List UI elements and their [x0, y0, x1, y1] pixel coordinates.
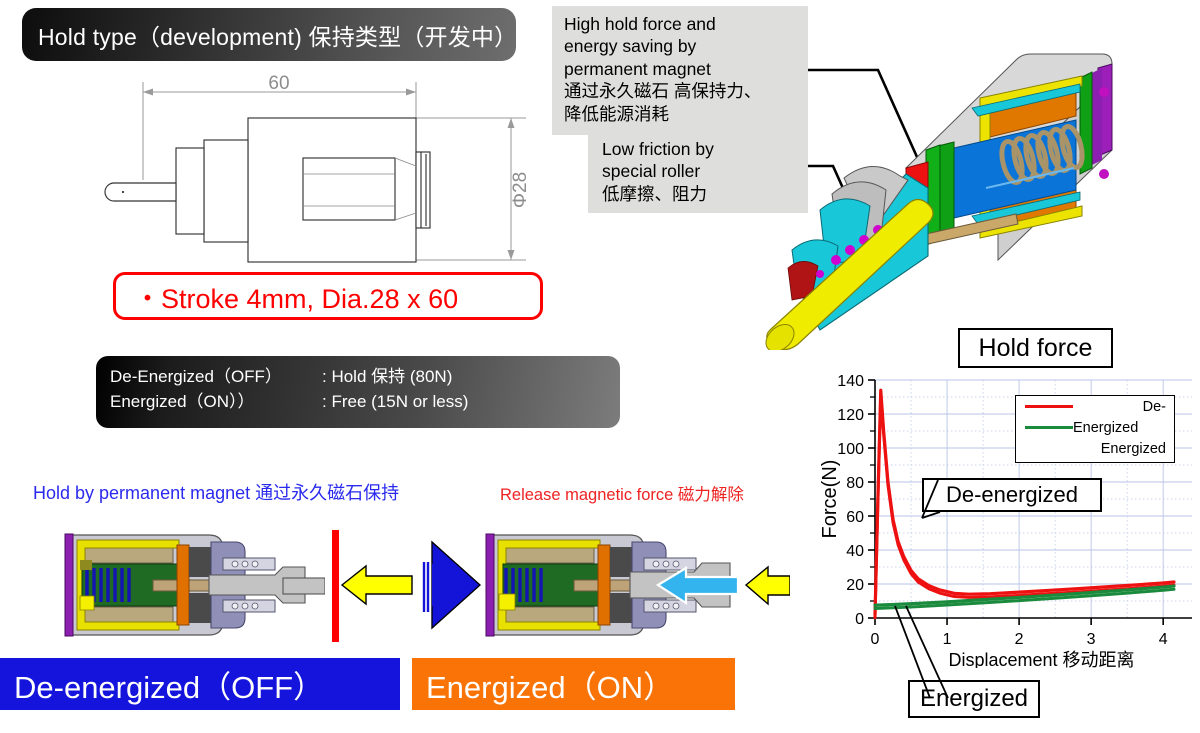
legend-row-deenergized: De- — [1016, 396, 1174, 417]
page-title: Hold type（development) 保持类型（开发中） — [22, 18, 517, 52]
red-divider-bar — [332, 530, 339, 642]
svg-text:60: 60 — [846, 509, 864, 526]
svg-text:120: 120 — [837, 407, 864, 424]
legend-label-deenergized-1: De- — [1073, 399, 1174, 415]
banner-deenergized-label: De-energized（OFF） — [0, 662, 324, 707]
legend-label-deenergized-2: Energized — [1073, 420, 1174, 436]
legend-label-energized: Energized — [1073, 441, 1174, 457]
dimension-diameter-label: Φ28 — [510, 172, 531, 208]
svg-text:3: 3 — [1087, 631, 1096, 648]
svg-text:2: 2 — [1015, 631, 1024, 648]
cutaway-3d-model — [758, 38, 1200, 350]
cutaway-deenergized — [25, 520, 325, 650]
stroke-spec-text: ・Stroke 4mm, Dia.28 x 60 — [116, 277, 458, 316]
legend-row-deenergized-cont: Energized — [1016, 417, 1174, 438]
banner-deenergized: De-energized（OFF） — [0, 658, 400, 710]
svg-text:0: 0 — [855, 611, 864, 628]
legend-swatch-deenergized — [1025, 405, 1073, 408]
slide-title-pill: Hold type（development) 保持类型（开发中） — [22, 8, 516, 61]
svg-text:0: 0 — [871, 631, 880, 648]
svg-text:Displacement 移动距离: Displacement 移动距离 — [948, 650, 1134, 668]
state-spec-panel: De-Energized（OFF） : Hold 保持 (80N) Energi… — [96, 356, 620, 428]
spec-row-on: Energized（ON）） : Free (15N or less) — [110, 390, 620, 415]
banner-energized-label: Energized（ON） — [412, 662, 674, 707]
svg-text:20: 20 — [846, 577, 864, 594]
callout-deenergized-label: De-energized — [946, 482, 1078, 508]
spec-value-off: : Hold 保持 (80N) — [322, 365, 452, 390]
technical-drawing: 60 Φ28 — [96, 70, 566, 270]
cutaway-energized — [480, 520, 790, 650]
chart-legend: De- Energized Energized — [1015, 395, 1175, 463]
legend-swatch-energized — [1025, 426, 1073, 429]
dimension-length-label: 60 — [268, 73, 289, 94]
banner-energized: Energized（ON） — [412, 658, 735, 710]
callout-energized: Energized — [908, 680, 1040, 718]
arrow-left-icon — [342, 566, 412, 604]
svg-text:Force(N): Force(N) — [820, 460, 841, 539]
svg-text:4: 4 — [1159, 631, 1168, 648]
spec-value-on: : Free (15N or less) — [322, 390, 468, 415]
svg-text:40: 40 — [846, 543, 864, 560]
svg-text:140: 140 — [837, 373, 864, 390]
legend-row-energized: Energized — [1016, 438, 1174, 459]
svg-text:100: 100 — [837, 441, 864, 458]
spec-row-off: De-Energized（OFF） : Hold 保持 (80N) — [110, 365, 620, 390]
arrow-left-icon — [746, 567, 790, 604]
arrow-right-icon — [424, 542, 480, 628]
svg-text:1: 1 — [943, 631, 952, 648]
callout-energized-label: Energized — [920, 685, 1028, 713]
svg-text:80: 80 — [846, 475, 864, 492]
spec-state-off: De-Energized（OFF） — [110, 365, 322, 390]
callout-deenergized: De-energized — [922, 478, 1102, 512]
stroke-spec-box: ・Stroke 4mm, Dia.28 x 60 — [113, 272, 543, 320]
chart-title-box: Hold force — [958, 328, 1113, 368]
caption-hold-by-magnet: Hold by permanent magnet 通过永久磁石保持 — [33, 479, 399, 505]
state-transition-arrows — [320, 520, 500, 650]
caption-release-magnetic-force: Release magnetic force 磁力解除 — [500, 481, 744, 505]
spec-state-on: Energized（ON）） — [110, 390, 322, 415]
chart-title: Hold force — [979, 334, 1093, 363]
